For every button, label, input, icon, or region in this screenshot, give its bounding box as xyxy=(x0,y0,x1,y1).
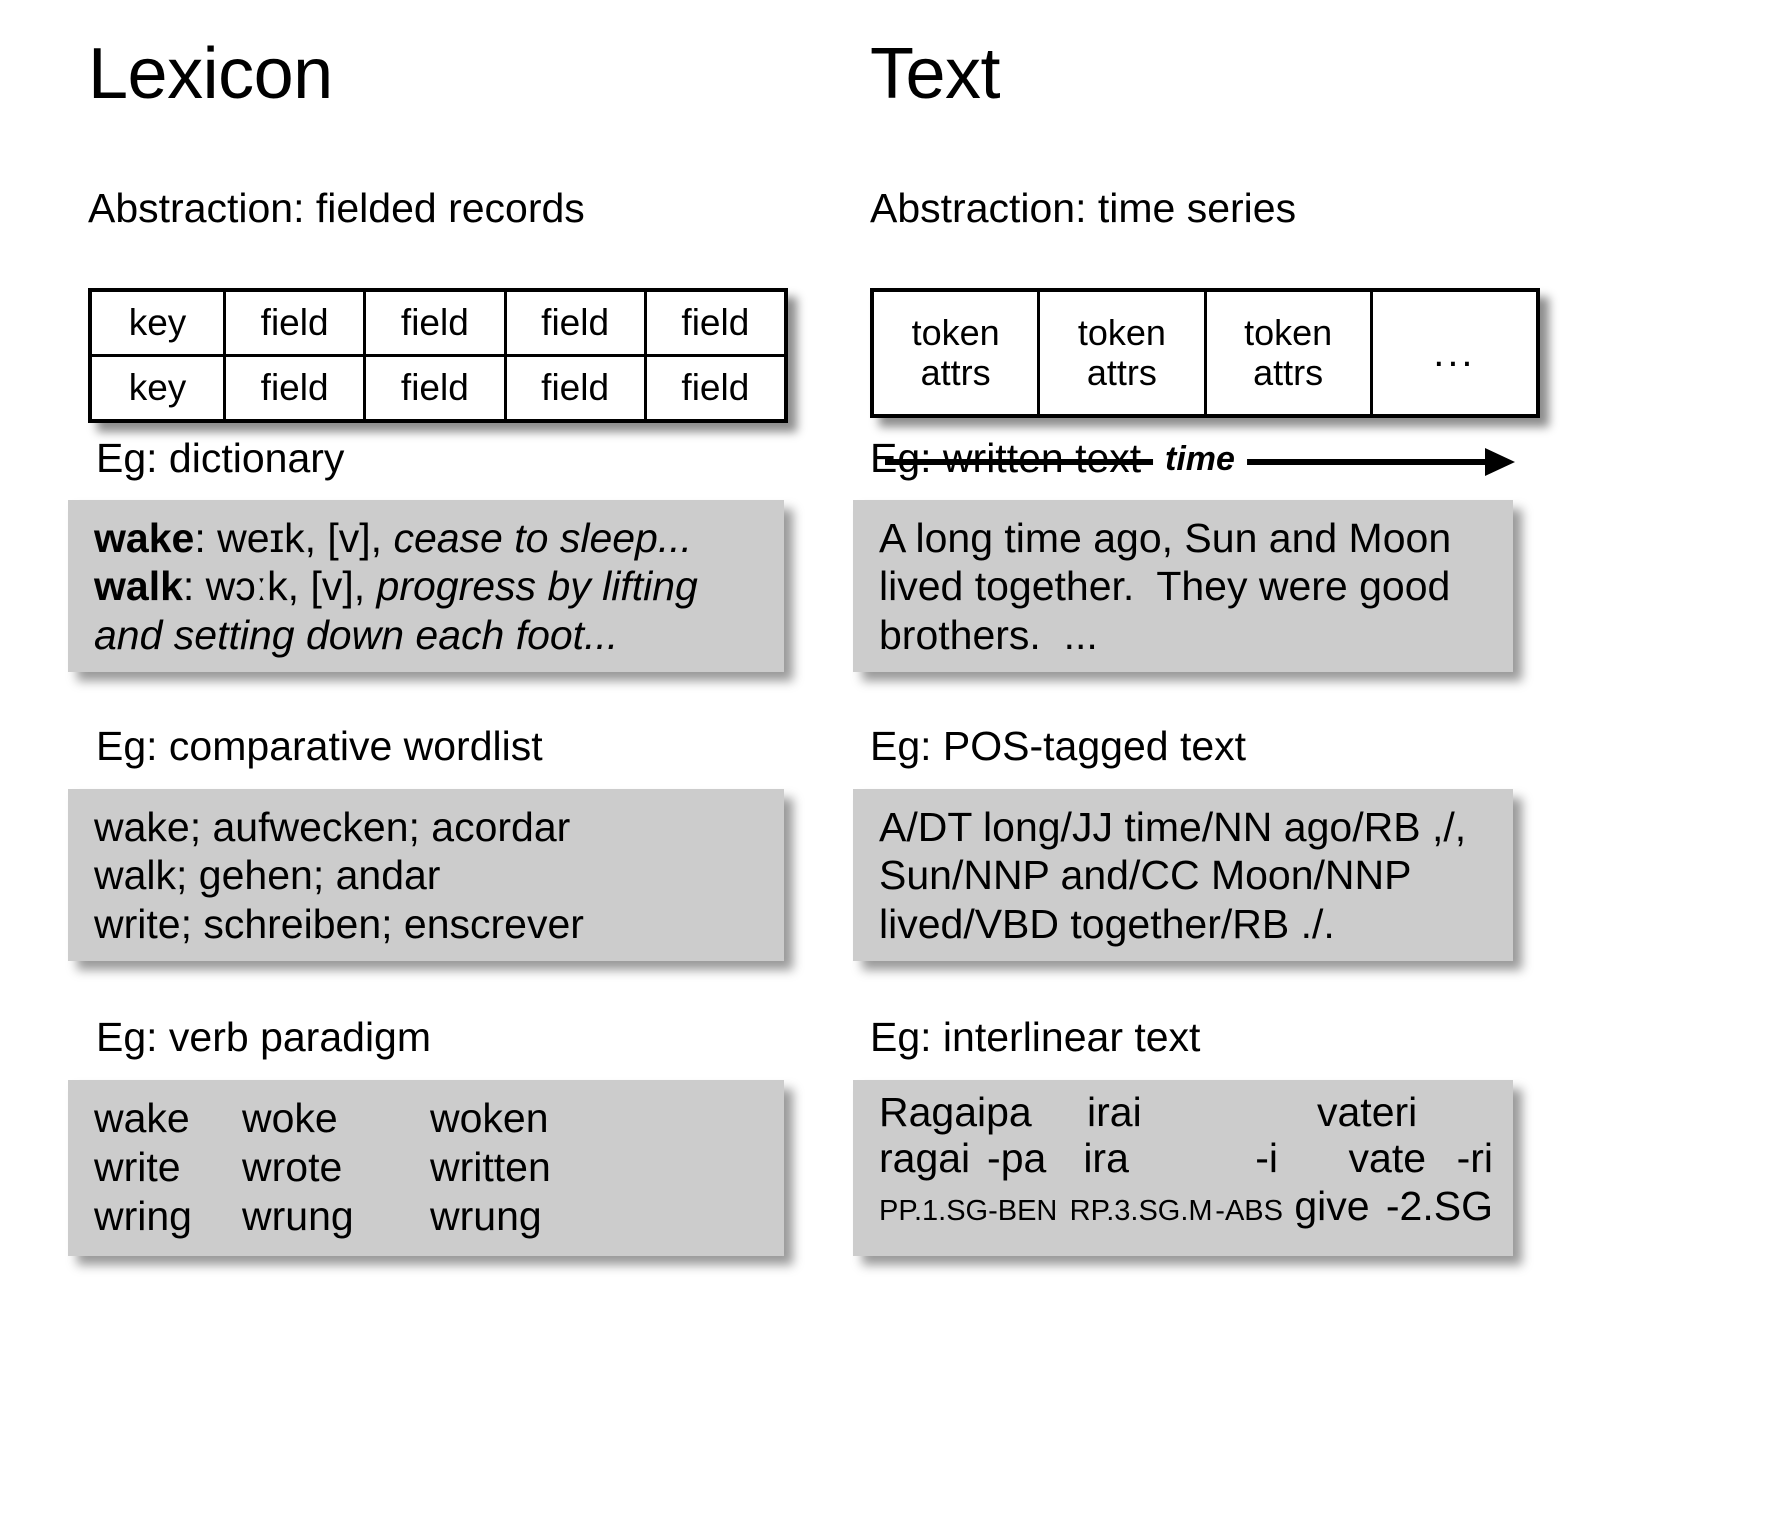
paradigm-base: wake xyxy=(94,1094,242,1143)
dictionary-pron-pos: : wɔːk, [v], xyxy=(183,563,377,609)
paradigm-row: wring wrung wrung xyxy=(94,1192,764,1241)
record-cell-field: field xyxy=(226,357,366,419)
interlinear-morpheme-line: ragai -pa ira -i vate -ri xyxy=(879,1136,1493,1182)
wordlist-line: write; schreiben; enscrever xyxy=(94,900,764,948)
record-cell-field: field xyxy=(647,357,784,419)
panel-written-text: A long time ago, Sun and Moon lived toge… xyxy=(853,500,1513,672)
dictionary-entry-line: wake: weɪk, [v], cease to sleep... xyxy=(94,514,764,562)
record-cell-field: field xyxy=(507,357,647,419)
pos-tagged-line: Sun/NNP and/CC Moon/NNP xyxy=(879,851,1493,899)
pos-tagged-line: lived/VBD together/RB ./. xyxy=(879,900,1493,948)
panel-dictionary: wake: weɪk, [v], cease to sleep... walk:… xyxy=(68,500,784,672)
token-label: token xyxy=(1078,313,1166,353)
igt-morpheme: ira xyxy=(1083,1136,1255,1182)
ellipsis-cell: ... xyxy=(1373,292,1536,414)
paradigm-base: wring xyxy=(94,1192,242,1241)
igt-word: irai xyxy=(1087,1090,1317,1136)
paradigm-base: write xyxy=(94,1143,242,1192)
caption-eg-written-text: Eg: written text xyxy=(870,438,1141,479)
attrs-label: attrs xyxy=(1253,353,1323,393)
ellipsis-label: ... xyxy=(1433,331,1475,376)
dictionary-entry-line: walk: wɔːk, [v], progress by lifting xyxy=(94,562,764,610)
interlinear-free-line: Ragaipa irai vateri xyxy=(879,1090,1493,1136)
dictionary-headword: wake xyxy=(94,515,194,561)
caption-eg-comparative-wordlist: Eg: comparative wordlist xyxy=(96,726,543,767)
record-cell-key: key xyxy=(92,292,226,354)
column-text: Text Abstraction: time series token attr… xyxy=(845,0,1645,1530)
caption-eg-interlinear-text: Eg: interlinear text xyxy=(870,1017,1200,1058)
igt-morpheme: -i xyxy=(1255,1136,1348,1182)
paradigm-participle: written xyxy=(430,1143,551,1192)
column-title-text: Text xyxy=(870,38,1000,110)
table-row: key field field field field xyxy=(92,292,784,357)
token-label: token xyxy=(1244,313,1332,353)
igt-gloss: RP.3.SG.M xyxy=(1070,1194,1216,1228)
dictionary-sense: progress by lifting xyxy=(377,563,698,609)
record-cell-field: field xyxy=(366,357,506,419)
paradigm-participle: wrung xyxy=(430,1192,542,1241)
igt-word: vateri xyxy=(1317,1090,1417,1136)
paradigm-past: woke xyxy=(242,1094,430,1143)
igt-morpheme: -ri xyxy=(1457,1136,1493,1182)
igt-gloss: give xyxy=(1294,1182,1386,1230)
attrs-label: attrs xyxy=(921,353,991,393)
token-label: token xyxy=(912,313,1000,353)
attrs-label: attrs xyxy=(1087,353,1157,393)
record-cell-field: field xyxy=(226,292,366,354)
igt-gloss: -BEN xyxy=(988,1194,1070,1228)
caption-eg-pos-tagged-text: Eg: POS-tagged text xyxy=(870,726,1246,767)
caption-eg-dictionary: Eg: dictionary xyxy=(96,438,344,479)
paradigm-row: wake woke woken xyxy=(94,1094,764,1143)
panel-verb-paradigm: wake woke woken write wrote written wrin… xyxy=(68,1080,784,1256)
slide-root: Lexicon Abstraction: fielded records key… xyxy=(0,0,1788,1530)
paradigm-past: wrote xyxy=(242,1143,430,1192)
time-series-table: token attrs token attrs token attrs ... xyxy=(870,288,1540,418)
record-cell-field: field xyxy=(647,292,784,354)
interlinear-gloss-line: PP.1.SG -BEN RP.3.SG.M -ABS give -2.SG xyxy=(879,1182,1493,1230)
igt-morpheme: ragai xyxy=(879,1136,987,1182)
igt-morpheme: vate xyxy=(1349,1136,1457,1182)
dictionary-pron-pos: : weɪk, [v], xyxy=(194,515,393,561)
wordlist-line: walk; gehen; andar xyxy=(94,851,764,899)
pos-tagged-line: A/DT long/JJ time/NN ago/RB ,/, xyxy=(879,803,1493,851)
panel-interlinear-text: Ragaipa irai vateri ragai -pa ira -i vat… xyxy=(853,1080,1513,1256)
caption-eg-verb-paradigm: Eg: verb paradigm xyxy=(96,1017,431,1058)
igt-morpheme: -pa xyxy=(987,1136,1083,1182)
dictionary-headword: walk xyxy=(94,563,183,609)
wordlist-line: wake; aufwecken; acordar xyxy=(94,803,764,851)
igt-word: Ragaipa xyxy=(879,1090,1087,1136)
paradigm-row: write wrote written xyxy=(94,1143,764,1192)
dictionary-sense-continuation: and setting down each foot... xyxy=(94,611,764,659)
paradigm-participle: woken xyxy=(430,1094,549,1143)
igt-gloss: -2.SG xyxy=(1386,1182,1493,1230)
column-lexicon: Lexicon Abstraction: fielded records key… xyxy=(60,0,860,1530)
column-title-lexicon: Lexicon xyxy=(88,38,333,110)
token-cell: token attrs xyxy=(1040,292,1206,414)
record-cell-field: field xyxy=(366,292,506,354)
record-cell-key: key xyxy=(92,357,226,419)
token-cell: token attrs xyxy=(1207,292,1373,414)
token-cell: token attrs xyxy=(874,292,1040,414)
igt-gloss: PP.1.SG xyxy=(879,1194,988,1228)
written-text-line: A long time ago, Sun and Moon xyxy=(879,514,1493,562)
panel-pos-tagged-text: A/DT long/JJ time/NN ago/RB ,/, Sun/NNP … xyxy=(853,789,1513,961)
fielded-records-table: key field field field field key field fi… xyxy=(88,288,788,423)
igt-gloss: -ABS xyxy=(1215,1194,1294,1228)
time-axis-label: time xyxy=(1153,442,1247,476)
dictionary-sense: cease to sleep... xyxy=(393,515,692,561)
caption-abstraction-text: Abstraction: time series xyxy=(870,188,1296,229)
panel-comparative-wordlist: wake; aufwecken; acordar walk; gehen; an… xyxy=(68,789,784,961)
table-row: key field field field field xyxy=(92,357,784,419)
caption-abstraction-lexicon: Abstraction: fielded records xyxy=(88,188,585,229)
paradigm-past: wrung xyxy=(242,1192,430,1241)
written-text-line: lived together. They were good xyxy=(879,562,1493,610)
written-text-line: brothers. ... xyxy=(879,611,1493,659)
record-cell-field: field xyxy=(507,292,647,354)
